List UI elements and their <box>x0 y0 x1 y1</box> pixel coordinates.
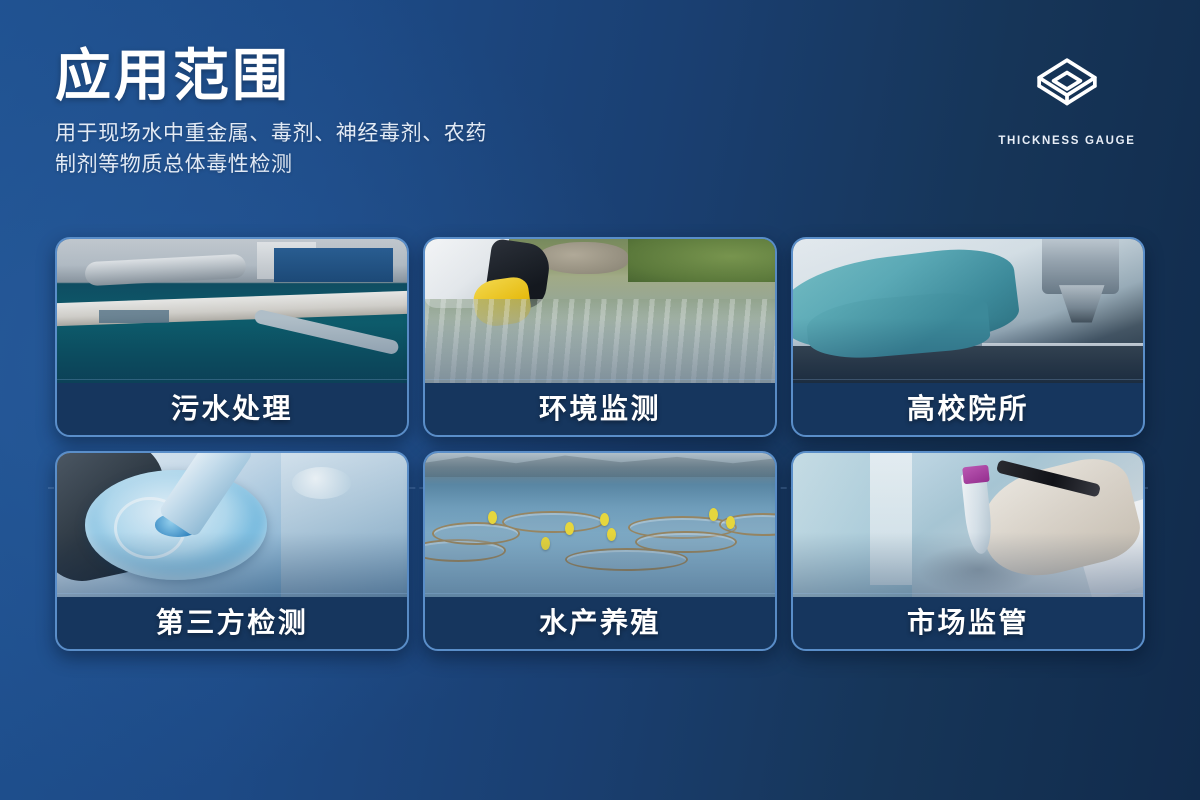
page-header: 应用范围 用于现场水中重金属、毒剂、神经毒剂、农药 制剂等物质总体毒性检测 <box>55 44 755 180</box>
card-label-bar: 市场监管 <box>793 593 1143 649</box>
card-image-petri-dish-pipette <box>57 453 407 597</box>
application-card-academia[interactable]: 高校院所 <box>791 237 1145 437</box>
card-image-microscope-lab <box>793 239 1143 383</box>
card-image-aquaculture-pens <box>425 453 775 597</box>
card-image-test-tube-labeling <box>793 453 1143 597</box>
application-card-wastewater[interactable]: 污水处理 <box>55 237 409 437</box>
card-label-bar: 第三方检测 <box>57 593 407 649</box>
card-label-text: 水产养殖 <box>539 601 661 641</box>
card-label-text: 污水处理 <box>171 387 293 427</box>
brand-name: THICKNESS GAUGE <box>982 135 1152 147</box>
page-title: 应用范围 <box>55 44 755 108</box>
application-card-aquaculture[interactable]: 水产养殖 <box>423 451 777 651</box>
card-label-text: 高校院所 <box>907 387 1029 427</box>
brand-block: THICKNESS GAUGE <box>982 55 1152 147</box>
card-label-text: 环境监测 <box>539 387 661 427</box>
card-label-text: 市场监管 <box>907 601 1029 641</box>
application-scope-page: 应用范围 用于现场水中重金属、毒剂、神经毒剂、农药 制剂等物质总体毒性检测 TH… <box>0 0 1200 800</box>
card-label-bar: 水产养殖 <box>425 593 775 649</box>
application-card-market-regulation[interactable]: 市场监管 <box>791 451 1145 651</box>
card-label-bar: 环境监测 <box>425 379 775 435</box>
application-card-grid: 污水处理 环境监测 <box>55 237 1145 651</box>
stacked-layers-diamond-icon <box>1034 55 1100 121</box>
card-image-stream-sampling <box>425 239 775 383</box>
page-subtitle: 用于现场水中重金属、毒剂、神经毒剂、农药 制剂等物质总体毒性检测 <box>55 118 755 180</box>
card-image-wastewater-treatment <box>57 239 407 383</box>
card-label-bar: 污水处理 <box>57 379 407 435</box>
application-card-third-party-testing[interactable]: 第三方检测 <box>55 451 409 651</box>
application-card-environment[interactable]: 环境监测 <box>423 237 777 437</box>
card-label-text: 第三方检测 <box>156 601 309 641</box>
card-label-bar: 高校院所 <box>793 379 1143 435</box>
